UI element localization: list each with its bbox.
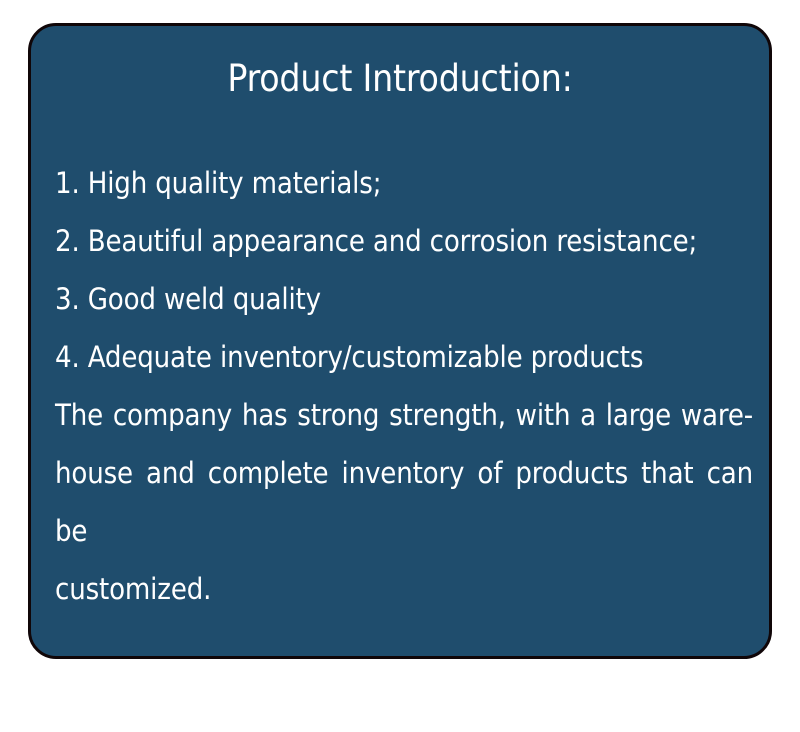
paragraph-line-1: The company has strong strength, with a … — [55, 386, 753, 444]
paragraph-line-2: house and complete inventory of products… — [55, 444, 753, 560]
product-introduction-panel: Product Introduction: 1. High quality ma… — [28, 23, 772, 659]
page-title: Product Introduction: — [31, 60, 769, 97]
feature-item-3: 3. Good weld quality — [55, 270, 753, 328]
company-description-paragraph: The company has strong strength, with a … — [55, 386, 753, 618]
paragraph-line-3: customized. — [55, 560, 753, 618]
feature-item-2: 2. Beautiful appearance and corrosion re… — [55, 212, 753, 270]
feature-item-1: 1. High quality materials; — [55, 154, 753, 212]
feature-item-4: 4. Adequate inventory/customizable produ… — [55, 328, 753, 386]
panel-body-text: 1. High quality materials; 2. Beautiful … — [55, 154, 753, 618]
